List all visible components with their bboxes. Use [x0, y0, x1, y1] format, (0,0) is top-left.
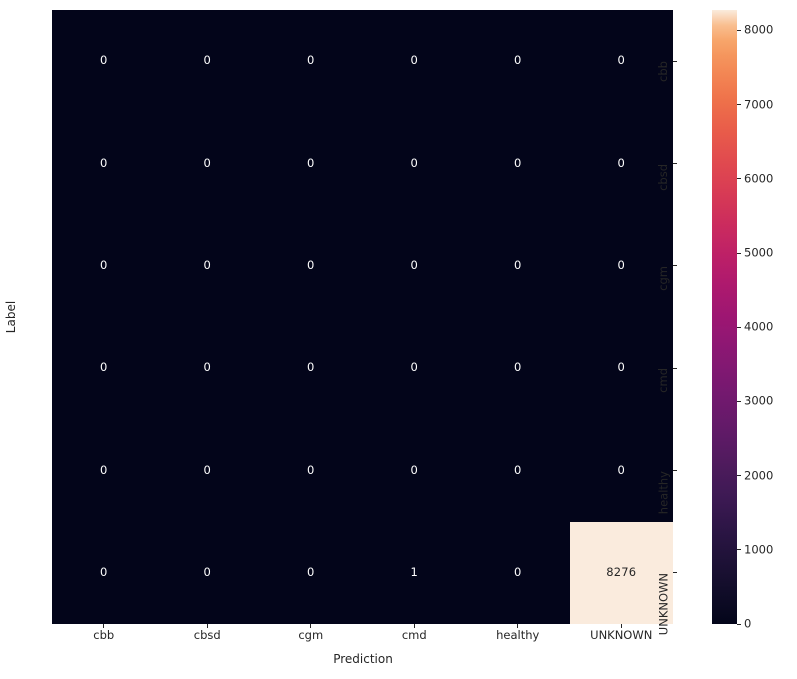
tick-mark-icon [737, 624, 741, 625]
heatmap-plot-area: 000000000000000000000000000000000108276 … [52, 10, 673, 624]
matplotlib-figure: 000000000000000000000000000000000108276 … [0, 0, 797, 679]
colorbar-tick-label: 1000 [744, 544, 773, 556]
heatmap-cell-value: 0 [617, 55, 625, 67]
heatmap-cell: 0 [156, 112, 260, 214]
heatmap-cell-value: 0 [203, 158, 211, 170]
y-tick-label: cgm [658, 266, 670, 291]
tick-mark-icon [737, 178, 741, 179]
heatmap-cell-value: 0 [307, 260, 315, 272]
heatmap-cell-value: 0 [617, 362, 625, 374]
heatmap-cell-value: 0 [100, 362, 108, 374]
colorbar-gradient [712, 10, 737, 624]
heatmap-cell-value: 0 [307, 362, 315, 374]
heatmap-cell-value: 0 [307, 55, 315, 67]
x-tick-label: cbb [93, 630, 114, 642]
heatmap-cell: 0 [156, 419, 260, 521]
heatmap-cell: 0 [363, 419, 467, 521]
colorbar-tick-label: 4000 [744, 321, 773, 333]
heatmap-cell: 0 [156, 10, 260, 112]
heatmap-cell-value: 0 [100, 158, 108, 170]
x-tick-label: cgm [298, 630, 323, 642]
colorbar-tick-label: 5000 [744, 247, 773, 259]
heatmap-cell: 0 [156, 215, 260, 317]
heatmap-cell: 0 [259, 419, 363, 521]
heatmap-cell-value: 0 [203, 55, 211, 67]
heatmap-cell: 0 [259, 317, 363, 419]
heatmap-cell: 0 [466, 215, 570, 317]
heatmap-cell: 0 [52, 522, 156, 624]
heatmap-cell: 1 [363, 522, 467, 624]
tick-mark-icon [673, 572, 677, 573]
tick-mark-icon [737, 30, 741, 31]
x-tick-label: UNKNOWN [590, 630, 652, 642]
heatmap-cell: 0 [466, 522, 570, 624]
tick-mark-icon [673, 368, 677, 369]
heatmap-cell-value: 0 [514, 260, 522, 272]
heatmap-cell-value: 0 [514, 158, 522, 170]
heatmap-cell: 0 [156, 522, 260, 624]
heatmap-cell: 0 [466, 10, 570, 112]
tick-mark-icon [737, 253, 741, 254]
heatmap-cell-value: 0 [307, 465, 315, 477]
tick-mark-icon [737, 327, 741, 328]
heatmap-cell-value: 0 [203, 260, 211, 272]
heatmap-cell-value: 0 [203, 465, 211, 477]
x-tick-label: cmd [402, 630, 427, 642]
tick-mark-icon [310, 624, 311, 628]
heatmap-cell-value: 0 [203, 362, 211, 374]
heatmap-cell: 0 [466, 419, 570, 521]
colorbar-tick-label: 6000 [744, 173, 773, 185]
heatmap-cell: 0 [363, 215, 467, 317]
tick-mark-icon [673, 163, 677, 164]
heatmap-cell-value: 0 [410, 55, 418, 67]
heatmap-cell: 0 [52, 112, 156, 214]
tick-mark-icon [737, 475, 741, 476]
colorbar-tick-label: 8000 [744, 25, 773, 37]
heatmap-cell: 0 [259, 10, 363, 112]
heatmap-cell-value: 0 [410, 465, 418, 477]
heatmap-cell: 0 [363, 10, 467, 112]
tick-mark-icon [737, 104, 741, 105]
colorbar-tick-label: 7000 [744, 99, 773, 111]
heatmap-cell: 0 [52, 215, 156, 317]
heatmap-cell-value: 0 [100, 260, 108, 272]
heatmap-cell-value: 0 [410, 260, 418, 272]
x-tick-label: cbsd [194, 630, 221, 642]
heatmap-cell: 0 [52, 419, 156, 521]
heatmap-cell-value: 0 [307, 158, 315, 170]
heatmap-cell-value: 0 [514, 55, 522, 67]
heatmap-cell: 0 [259, 215, 363, 317]
x-tick-label: healthy [496, 630, 539, 642]
y-tick-label: cmd [658, 368, 670, 393]
y-axis-title: Label [4, 301, 18, 333]
heatmap-cell-value: 8276 [606, 567, 636, 579]
tick-mark-icon [737, 549, 741, 550]
heatmap-cell-value: 0 [514, 362, 522, 374]
heatmap-cell-value: 0 [410, 362, 418, 374]
tick-mark-icon [207, 624, 208, 628]
colorbar-tick-label: 0 [744, 618, 751, 630]
heatmap-cell-value: 0 [514, 465, 522, 477]
y-tick-label: cbb [658, 61, 670, 82]
tick-mark-icon [673, 61, 677, 62]
heatmap-cell: 0 [52, 317, 156, 419]
heatmap-cell-value: 0 [514, 567, 522, 579]
x-axis-title: Prediction [333, 652, 393, 666]
heatmap-cell-value: 0 [617, 158, 625, 170]
heatmap-cell-grid: 000000000000000000000000000000000108276 [52, 10, 673, 624]
heatmap-cell: 0 [466, 112, 570, 214]
heatmap-cell-value: 1 [410, 567, 418, 579]
heatmap-cell-value: 0 [100, 55, 108, 67]
heatmap-cell: 0 [156, 317, 260, 419]
heatmap-cell-value: 0 [100, 567, 108, 579]
heatmap-cell: 0 [259, 112, 363, 214]
heatmap-cell-value: 0 [307, 567, 315, 579]
heatmap-cell: 0 [363, 112, 467, 214]
tick-mark-icon [621, 624, 622, 628]
colorbar-tick-label: 2000 [744, 470, 773, 482]
y-tick-label: UNKNOWN [658, 573, 670, 635]
heatmap-cell: 0 [259, 522, 363, 624]
heatmap-cell-value: 0 [410, 158, 418, 170]
heatmap-cell: 0 [363, 317, 467, 419]
heatmap-cell: 0 [52, 10, 156, 112]
heatmap-cell-value: 0 [203, 567, 211, 579]
tick-mark-icon [414, 624, 415, 628]
tick-mark-icon [103, 624, 104, 628]
heatmap-cell-value: 0 [617, 260, 625, 272]
tick-mark-icon [673, 265, 677, 266]
tick-mark-icon [737, 401, 741, 402]
heatmap-cell-value: 0 [617, 465, 625, 477]
y-tick-label: cbsd [658, 164, 670, 191]
y-tick-label: healthy [658, 471, 670, 514]
heatmap-cell-value: 0 [100, 465, 108, 477]
tick-mark-icon [517, 624, 518, 628]
tick-mark-icon [673, 470, 677, 471]
colorbar-tick-label: 3000 [744, 396, 773, 408]
colorbar: 010002000300040005000600070008000 [712, 10, 737, 624]
heatmap-cell: 0 [466, 317, 570, 419]
